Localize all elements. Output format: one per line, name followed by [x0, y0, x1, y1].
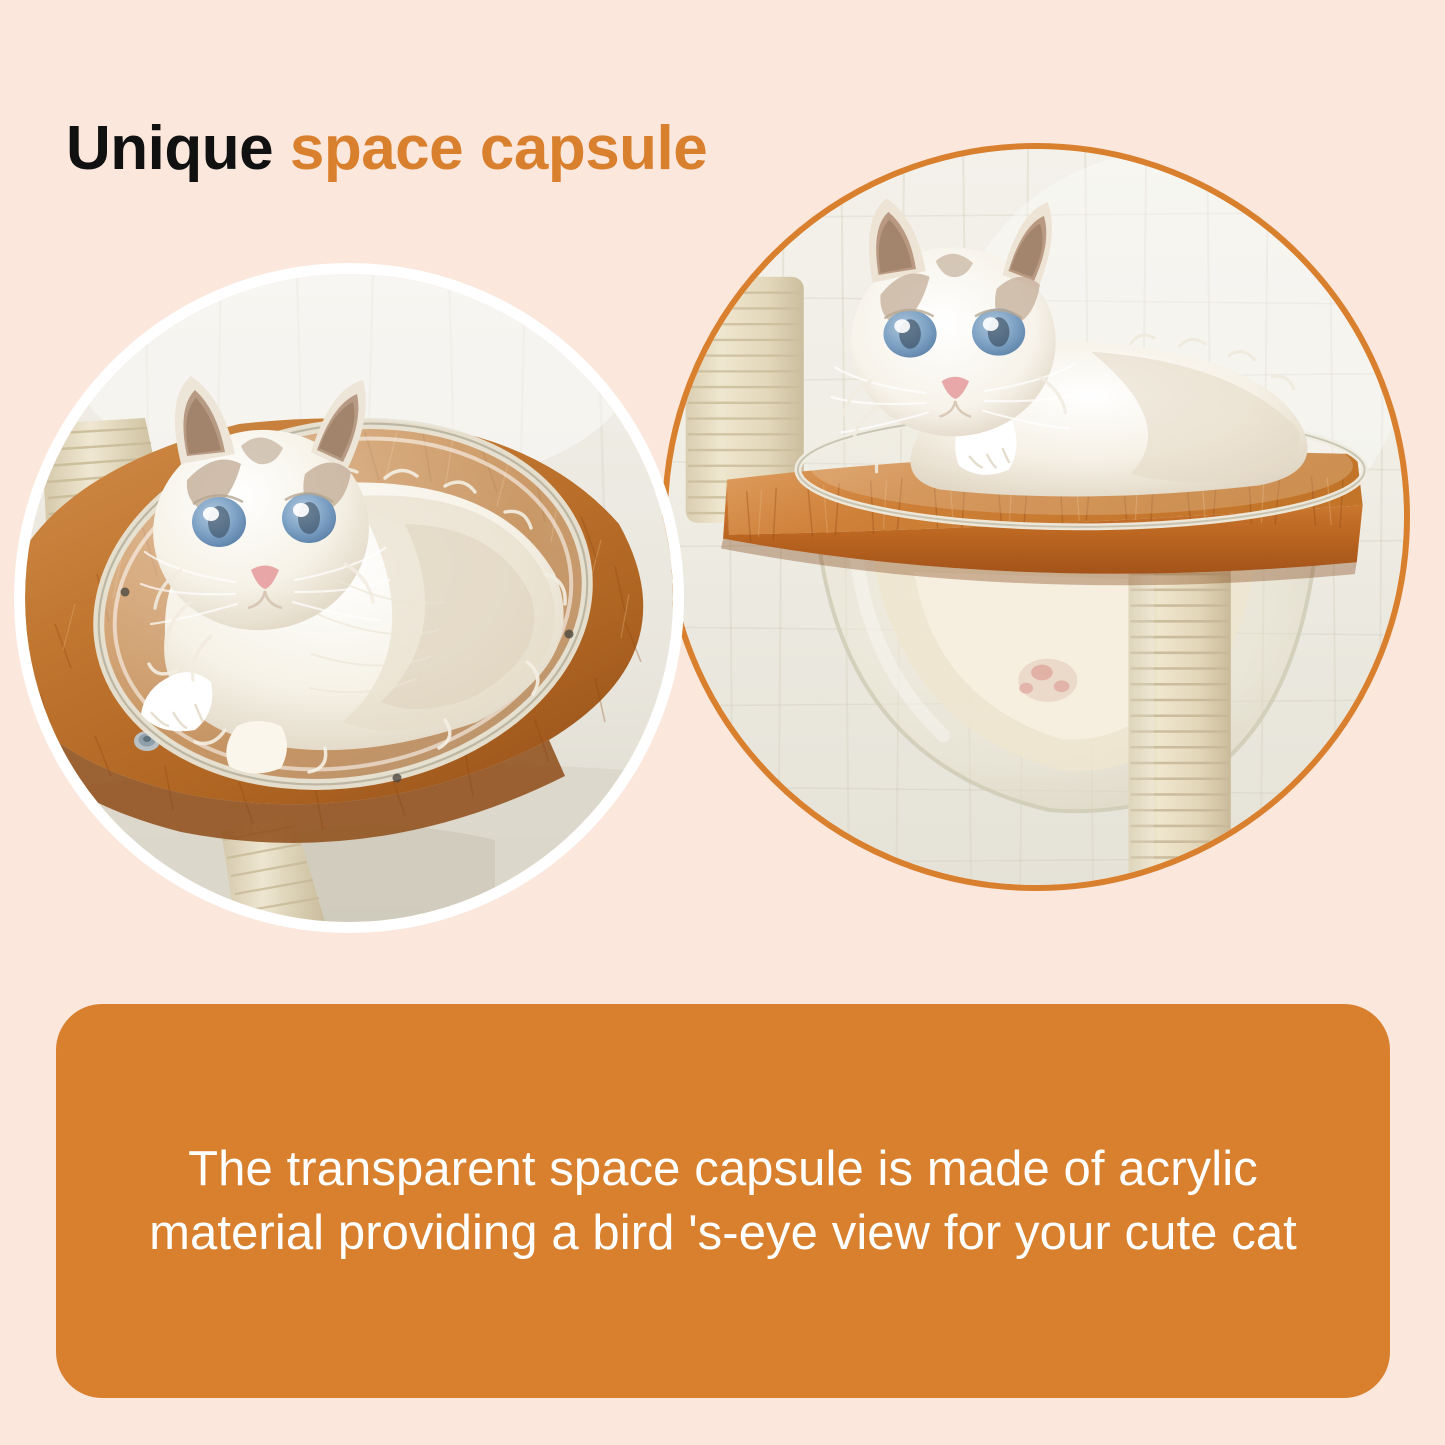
page-title: Unique space capsule [66, 118, 707, 180]
description-text: The transparent space capsule is made of… [109, 1137, 1336, 1265]
cat-in-capsule-illustration [668, 149, 1404, 885]
page-title-accent: space capsule [290, 114, 707, 183]
cat-in-dome-illustration [25, 274, 673, 922]
photo-right-image [668, 149, 1404, 885]
page-title-dark: Unique [66, 114, 273, 183]
description-banner: The transparent space capsule is made of… [56, 1004, 1390, 1398]
product-photo-capsule-top-view [14, 263, 684, 933]
product-photo-capsule-side-view [662, 143, 1410, 891]
photo-left-image [25, 274, 673, 922]
